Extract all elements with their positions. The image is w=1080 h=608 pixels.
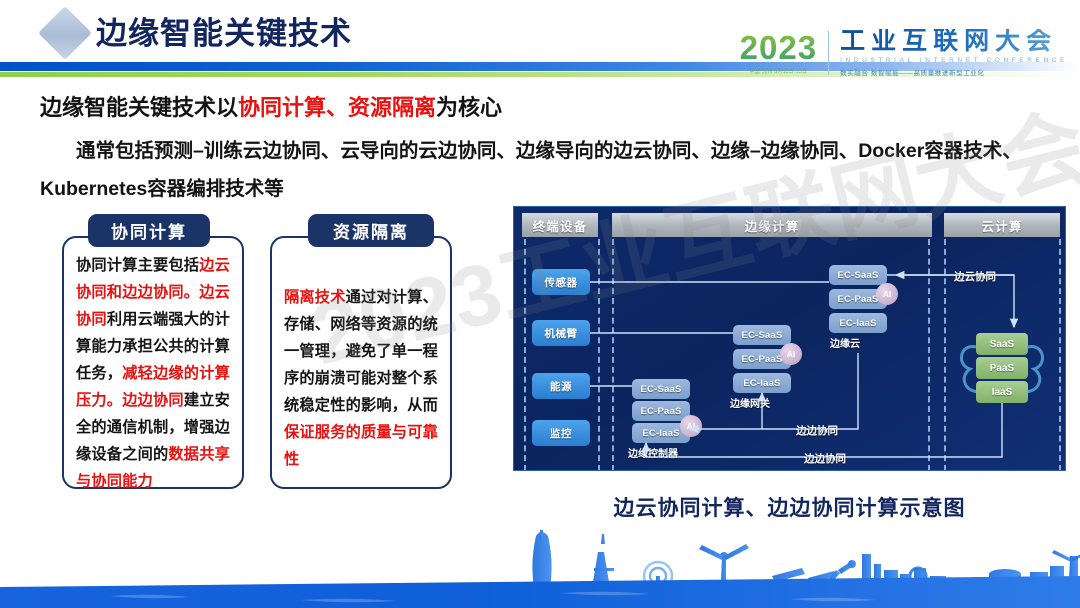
terminal-node-energy: 能源	[532, 373, 590, 399]
divider-dashed	[1059, 239, 1061, 471]
paragraph-line-1-text: 通常包括预测–训练云边协同、云导向的云边协同、边缘导向的边云协同、边缘–边缘协同…	[76, 140, 1022, 162]
band-terminal-devices: 终端设备	[522, 213, 598, 237]
card-seg-highlight: 保证服务的质量与可靠性	[284, 424, 438, 468]
terminal-node-robot-arm: 机械臂	[532, 320, 590, 346]
footer-skyline	[0, 530, 1080, 608]
footer-skyline-graphic	[0, 530, 1080, 608]
conference-logo: 2023 中国·苏州 9月11日-13日 工业互联网大会 INDUSTRIAL …	[740, 22, 1068, 84]
card-resource-isolation: 隔离技术通过对计算、存储、网络等资源的统一管理，避免了单一程序的崩溃可能对整个系…	[270, 236, 452, 489]
terminal-node-monitoring: 监控	[532, 420, 590, 446]
logo-year-subtitle: 中国·苏州 9月11日-13日	[750, 68, 808, 75]
card-collaborative-computing-body: 协同计算主要包括边云协同和边边协同。边云协同利用云端强大的计算能力承担公共的计算…	[64, 238, 242, 505]
divider-dashed	[928, 239, 930, 471]
divider-dashed	[598, 239, 600, 471]
card-resource-isolation-body: 隔离技术通过对计算、存储、网络等资源的统一管理，避免了单一程序的崩溃可能对整个系…	[272, 238, 450, 483]
edge-cloud-iaas-node: EC-IaaS	[829, 313, 887, 333]
cloud-iaas-node: IaaS	[976, 381, 1028, 403]
logo-english-title: INDUSTRIAL INTERNET CONFERENCE	[840, 57, 1068, 64]
ai-badge-icon: AI	[680, 415, 702, 437]
cloud-paas-node: PaaS	[976, 357, 1028, 379]
logo-year: 2023	[740, 31, 817, 64]
lead-highlight: 协同计算、资源隔离	[238, 95, 436, 120]
edge-gateway-saas-node: EC-SaaS	[733, 325, 791, 345]
ai-badge-icon: AI	[780, 343, 802, 365]
card-collaborative-computing: 协同计算主要包括边云协同和边边协同。边云协同利用云端强大的计算能力承担公共的计算…	[62, 236, 244, 489]
flow-label-edge-edge-collab-1: 边边协同	[796, 423, 838, 438]
edge-controller-saas-node: EC-SaaS	[632, 379, 690, 399]
card-collaborative-computing-title: 协同计算	[88, 214, 210, 247]
diagram-caption: 边云协同计算、边边协同计算示意图	[513, 492, 1066, 522]
logo-text-block: 工业互联网大会 INDUSTRIAL INTERNET CONFERENCE 数…	[829, 29, 1068, 77]
divider-dashed	[524, 239, 526, 471]
paragraph-line-1: 通常包括预测–训练云边协同、云导向的云边协同、边缘导向的边云协同、边缘–边缘协同…	[40, 134, 1022, 163]
card-seg: 协同计算主要包括	[76, 257, 199, 274]
edge-controller-paas-node: EC-PaaS	[632, 401, 690, 421]
lead-suffix: 为核心	[436, 95, 502, 120]
edge-cloud-label: 边缘云	[830, 335, 860, 350]
divider-dashed	[944, 239, 946, 471]
terminal-node-sensor: 传感器	[532, 269, 590, 295]
cloud-saas-node: SaaS	[976, 333, 1028, 355]
band-cloud-computing: 云计算	[944, 213, 1060, 237]
lead-prefix: 边缘智能关键技术以	[40, 95, 238, 120]
architecture-diagram: 终端设备 边缘计算 云计算 传感器 机械臂 能源 监控 EC-SaaS EC-P…	[513, 206, 1066, 471]
edge-gateway-label: 边缘网关	[730, 395, 770, 410]
diamond-bullet-icon	[38, 6, 92, 60]
card-resource-isolation-title: 资源隔离	[308, 214, 434, 247]
flow-label-edge-edge-collab-2: 边边协同	[804, 451, 846, 466]
logo-slogan: 数实融合 数智赋能——高质量推进新型工业化	[840, 67, 1068, 77]
edge-controller-label: 边缘控制器	[628, 445, 678, 460]
page-title: 边缘智能关键技术	[96, 8, 352, 53]
divider-dashed	[612, 239, 614, 471]
lead-statement: 边缘智能关键技术以协同计算、资源隔离为核心	[40, 90, 502, 122]
paragraph-line-2: Kubernetes容器编排技术等	[40, 172, 284, 201]
flow-label-edge-cloud-collab: 边云协同	[954, 269, 996, 284]
slide-root: 边缘智能关键技术 2023 中国·苏州 9月11日-13日 工业互联网大会 IN…	[0, 0, 1080, 608]
logo-main-title: 工业互联网大会	[840, 29, 1068, 54]
card-seg-highlight: 隔离技术	[284, 289, 346, 306]
edge-gateway-iaas-node: EC-IaaS	[733, 373, 791, 393]
edge-cloud-saas-node: EC-SaaS	[829, 265, 887, 285]
band-edge-computing: 边缘计算	[612, 213, 932, 237]
ai-badge-icon: AI	[876, 283, 898, 305]
card-seg: 通过对计算、存储、网络等资源的统一管理，避免了单一程序的崩溃可能对整个系统稳定性…	[284, 289, 438, 414]
logo-year-block: 2023 中国·苏州 9月11日-13日	[740, 31, 828, 75]
